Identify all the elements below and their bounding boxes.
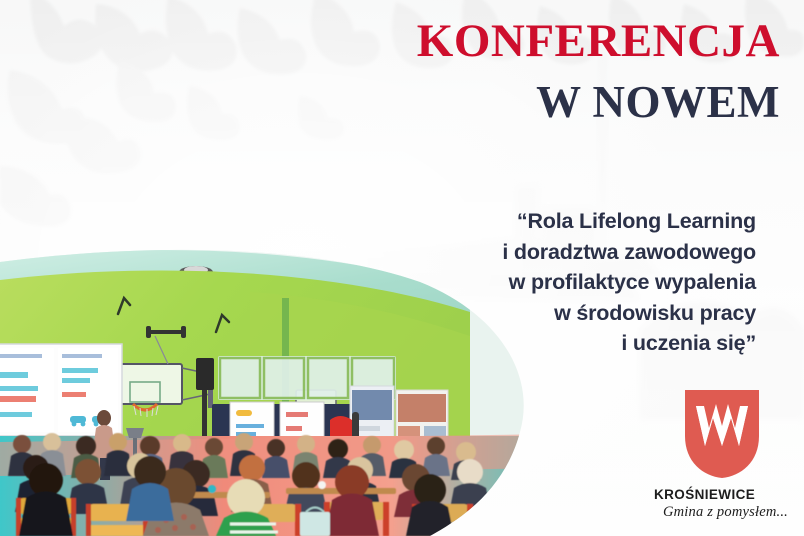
logo-tagline: Gmina z pomysłem... [640, 504, 804, 521]
subtitle-line-2: i doradztwa zawodowego [400, 237, 756, 268]
subtitle-line-4: w środowisku pracy [400, 298, 756, 329]
poster-headline: KONFERENCJA W NOWEM [300, 18, 780, 125]
crest-shield-icon [683, 388, 761, 480]
subtitle-line-3: w profilaktyce wypalenia [400, 267, 756, 298]
krosniewice-logo: KROŚNIEWICE Gmina z pomysłem... [640, 388, 804, 521]
subtitle-line-1: “Rola Lifelong Learning [400, 206, 756, 237]
conference-poster: KONFERENCJA W NOWEM “Rola Lifelong Learn… [0, 0, 804, 536]
subtitle-line-5: i uczenia się” [400, 328, 756, 359]
poster-subtitle-quote: “Rola Lifelong Learning i doradztwa zawo… [400, 206, 780, 359]
headline-line-w-nowem: W NOWEM [300, 80, 780, 125]
headline-line-konferencja: KONFERENCJA [300, 18, 780, 65]
logo-municipality-name: KROŚNIEWICE [640, 487, 804, 502]
